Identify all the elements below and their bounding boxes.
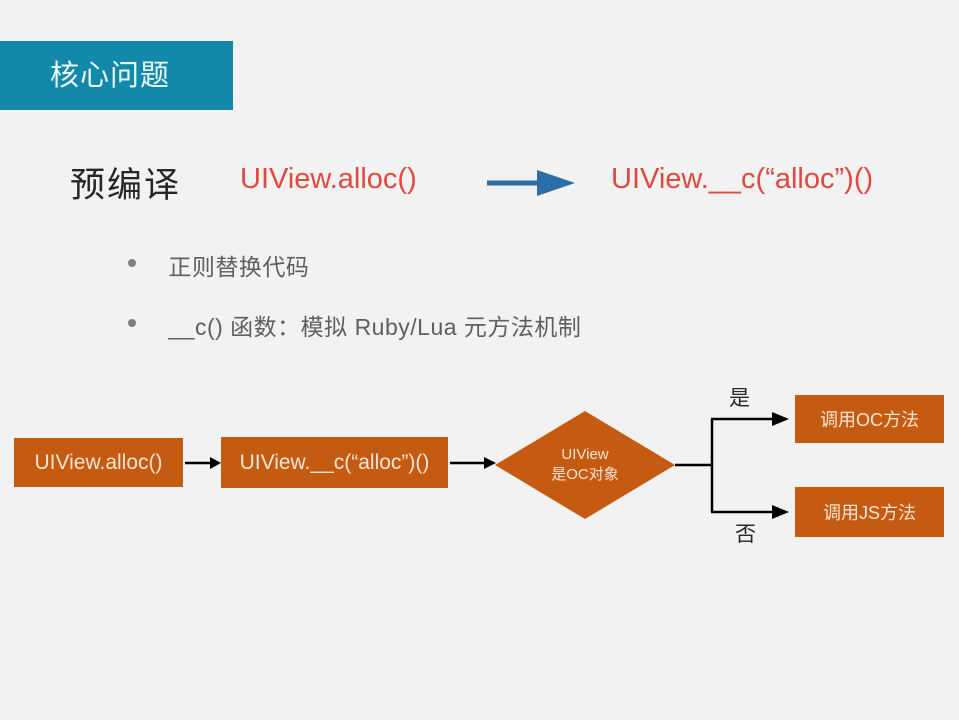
right-arrow-icon (487, 168, 577, 198)
headline-label: 预编译 (70, 157, 181, 208)
flow-node-label: UIView 是OC对象 (495, 411, 675, 519)
flow-node-label: UIView.__c(“alloc”)() (240, 451, 430, 475)
branch-label-yes: 是 (729, 382, 750, 412)
flow-node-start[interactable]: UIView.alloc() (14, 438, 183, 487)
flow-node-label-line2: 是OC对象 (551, 465, 619, 485)
headline-code-after: UIView.__c(“alloc”)() (611, 163, 873, 196)
flow-node-call-js[interactable]: 调用JS方法 (795, 487, 944, 537)
flow-node-label: 调用OC方法 (820, 406, 919, 432)
bullet-dot-icon (128, 319, 136, 327)
headline-code-before: UIView.alloc() (240, 163, 417, 196)
bullet-item: __c() 函数：模拟 Ruby/Lua 元方法机制 (128, 308, 581, 342)
flow-node-label: 调用JS方法 (823, 499, 916, 525)
flow-node-decision[interactable]: UIView 是OC对象 (495, 411, 675, 519)
page-title: 核心问题 (50, 50, 240, 102)
bullet-dot-icon (128, 259, 136, 267)
bullet-item: 正则替换代码 (128, 248, 309, 282)
bullet-item-label: __c() 函数：模拟 Ruby/Lua 元方法机制 (168, 308, 581, 342)
flow-node-label: UIView.alloc() (35, 451, 163, 475)
flow-node-label-line1: UIView (561, 445, 608, 465)
bullet-item-label: 正则替换代码 (168, 248, 309, 282)
branch-label-no: 否 (735, 518, 756, 548)
slide-canvas: 核心问题 预编译 UIView.alloc() UIView.__c(“allo… (0, 0, 959, 720)
flow-node-transformed[interactable]: UIView.__c(“alloc”)() (221, 437, 448, 488)
flow-node-call-oc[interactable]: 调用OC方法 (795, 395, 944, 443)
